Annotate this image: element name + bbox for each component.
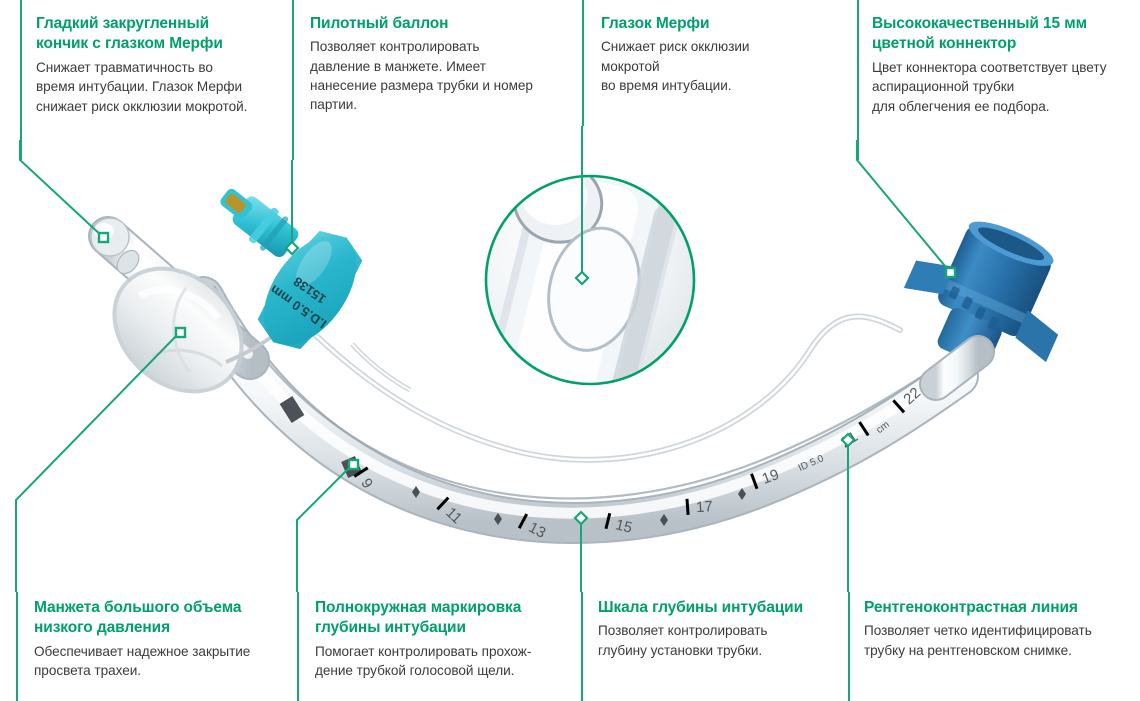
scale-tick-13: 13 [526,519,549,542]
inflation-valve [212,178,304,263]
leader-connector [857,140,950,272]
marker-cuff [176,328,185,337]
marker-pilot-balloon [286,242,298,254]
callout-cuff-body: Обеспечивает надежное закрытие просвета … [34,642,289,681]
callout-murphy-eye-title: Глазок Мерфи [601,14,841,34]
callout-depth-scale: Шкала глубины интубации Позволяет контро… [598,598,848,660]
leader-ring-marking [297,464,353,592]
callout-pilot-balloon-title: Пилотный баллон [310,14,575,34]
callout-depth-scale-body: Позволяет контролировать глубину установ… [598,621,848,660]
scale-tick-17: 17 [696,498,714,516]
marker-radiopaque [842,434,854,446]
divider-top-4 [857,0,859,160]
balloon-lot-print: 15138 [291,274,329,307]
divider-top-3 [582,0,584,126]
callout-ring-marking-body: Помогает контролировать прохож- дение тр… [315,642,570,681]
callout-connector-title: Высококачественный 15 мм цветной коннект… [872,14,1134,55]
callout-murphy-tip-title: Гладкий закругленный кончик с глазком Ме… [36,14,286,55]
tube-body [203,286,958,523]
callout-pilot-balloon-body: Позволяет контролировать давление в манж… [310,37,575,114]
callout-murphy-eye-body: Снижает риск окклюзии мокротой во время … [601,37,841,95]
divider-top-2 [292,0,294,160]
callout-radiopaque: Рентгеноконтрастная линия Позволяет четк… [864,598,1132,660]
scale-tick-19: 19 [760,466,781,488]
divider-bottom-1 [16,592,18,701]
scale-tick-22: 22 [900,384,924,408]
inflation-line [300,316,900,459]
scale-tick-21: 21 [838,428,861,451]
callout-pilot-balloon: Пилотный баллон Позволяет контролировать… [310,14,575,115]
scale-tick-9: 9 [357,475,376,491]
callout-murphy-tip: Гладкий закругленный кончик с глазком Ме… [36,14,286,116]
callout-murphy-tip-body: Снижает травматичность во время интубаци… [36,58,286,116]
callout-murphy-eye: Глазок Мерфи Снижает риск окклюзии мокро… [601,14,841,95]
divider-bottom-2 [297,592,299,701]
infographic-page: 9 11 13 15 17 19 [0,0,1140,701]
callout-ring-marking: Полнокружная маркировка глубины интубаци… [315,598,570,681]
tracheal-cuff [87,241,269,420]
divider-bottom-4 [848,592,850,701]
tube-size-print: ID 5.0 [797,453,826,474]
murphy-eye-opening [113,246,144,277]
balloon-size-print: I.D.5.0 mm [267,282,329,332]
scale-half-marks [412,486,746,526]
marker-connector [946,268,955,277]
callout-cuff-title: Манжета большого объема низкого давления [34,598,289,639]
divider-top-1 [20,0,22,160]
pilot-balloon-assembly: 15138 I.D.5.0 mm [212,178,410,390]
marker-ring-marking [349,460,358,469]
callout-connector-body: Цвет коннектора соответствует цвету аспи… [872,58,1134,116]
leader-cuff [16,332,180,592]
scale-tick-11: 11 [442,504,465,527]
marker-murphy-tip [99,233,108,242]
callout-cuff: Манжета большого объема низкого давления… [34,598,289,681]
scale-tick-15: 15 [614,516,634,537]
callout-radiopaque-title: Рентгеноконтрастная линия [864,598,1132,618]
tube-tip-and-cuff [87,218,292,420]
scale-unit-label: cm [874,419,891,436]
callout-depth-scale-title: Шкала глубины интубации [598,598,848,618]
divider-bottom-3 [581,592,583,701]
depth-marking-rings [286,400,355,475]
murphy-eye-hole [536,218,651,360]
connector-15mm [888,199,1090,389]
callout-radiopaque-body: Позволяет четко идентифицировать трубку … [864,621,1132,660]
depth-scale-markings: 9 11 13 15 17 19 [352,384,924,542]
murphy-eye-magnifier [468,152,694,419]
callout-connector: Высококачественный 15 мм цветной коннект… [872,14,1134,116]
callout-ring-marking-title: Полнокружная маркировка глубины интубаци… [315,598,570,639]
marker-murphy-eye [576,272,588,284]
leader-murphy-tip [20,140,103,237]
marker-depth-scale [575,512,587,524]
